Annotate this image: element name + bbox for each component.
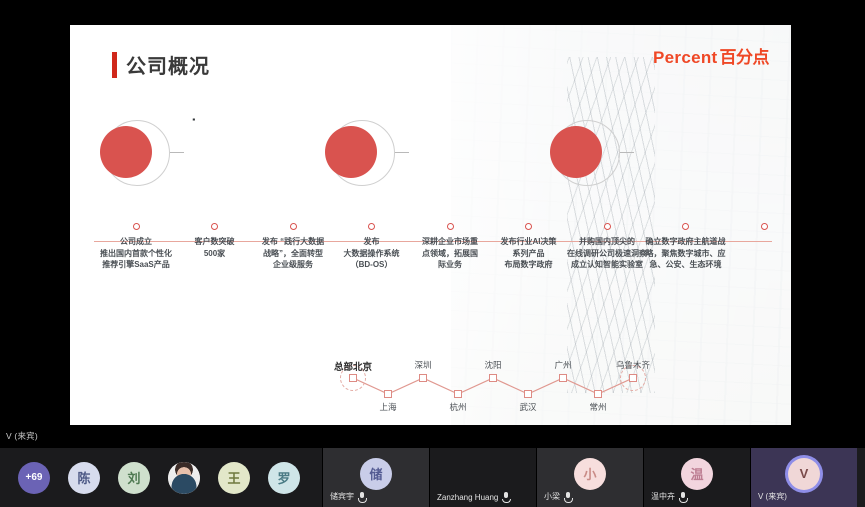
participant-dock: +69陈刘王罗 储储宾宇Zanzhang Huang小小梁温温中卉VV (来宾) (0, 448, 865, 507)
company-logo: Percent百分点 (653, 43, 769, 68)
city-square (384, 390, 392, 398)
city-square (419, 374, 427, 382)
tile-avatar: 储 (360, 458, 392, 490)
tile-name-row: 小梁 (544, 491, 571, 502)
muted-mic-icon (679, 492, 686, 502)
tile-avatar: 温 (681, 458, 713, 490)
timeline-dot (447, 223, 454, 230)
meeting-screen: 公司概况 Percent百分点 公司成立推出国内首款个性化推荐引擎SaaS产品客… (0, 0, 865, 507)
timeline-dot (525, 223, 532, 230)
tile-avatar-label: 储 (369, 464, 382, 483)
participant-avatar-strip[interactable]: +69陈刘王罗 (0, 448, 322, 507)
city-name: 武汉 (493, 401, 563, 413)
timeline-dot (211, 223, 218, 230)
city-map: 总部北京上海深圳杭州沈阳武汉广州常州乌鲁木齐 (315, 350, 675, 420)
tile-participant-name: 储宾宇 (330, 491, 354, 502)
muted-mic-icon (358, 492, 365, 502)
tile-avatar: 小 (574, 458, 606, 490)
tile-participant-name: 小梁 (544, 491, 560, 502)
tile-avatar-label: 小 (583, 464, 596, 483)
muted-mic-icon (564, 492, 571, 502)
participant-tile[interactable]: 储储宾宇 (322, 448, 429, 507)
badge-connector (170, 152, 184, 153)
avatar-photo (168, 462, 200, 494)
pillar-3 (550, 108, 790, 208)
participant-avatar[interactable]: 陈 (68, 462, 100, 494)
tile-avatar-label: V (800, 466, 809, 481)
timeline-desc: 确立数字政府主航道战略，聚焦数字城市、应急、公安、生态环境 (638, 236, 734, 271)
participant-avatar[interactable]: 王 (218, 462, 250, 494)
timeline-desc-line: 略，聚焦数字城市、应 (638, 248, 734, 260)
avatar-label: +69 (26, 472, 43, 483)
timeline-desc-line: 推荐引擎SaaS产品 (88, 259, 184, 271)
timeline-dot (133, 223, 140, 230)
city-square (454, 390, 462, 398)
city-square (524, 390, 532, 398)
pillar-group (70, 108, 791, 208)
timeline-dot (682, 223, 689, 230)
logo-en-text: Percent (653, 48, 717, 67)
timeline-desc-line: 急、公安、生态环境 (638, 259, 734, 271)
city-name: 上海 (353, 401, 423, 413)
slide-title: 公司概况 (112, 50, 210, 79)
pillar-badge (325, 118, 401, 194)
presentation-slide: 公司概况 Percent百分点 公司成立推出国内首款个性化推荐引擎SaaS产品客… (70, 25, 791, 425)
pillar-badge (100, 118, 176, 194)
city-name: 总部北京 (318, 359, 388, 373)
participant-avatar[interactable] (168, 462, 200, 494)
pillar-2 (325, 108, 565, 208)
tile-participant-name: 温中卉 (651, 491, 675, 502)
city-square (559, 374, 567, 382)
participant-tile[interactable]: 小小梁 (536, 448, 643, 507)
pillar-1 (100, 108, 340, 208)
city-name: 沈阳 (458, 359, 528, 371)
slide-title-text: 公司概况 (126, 50, 210, 79)
city-square (594, 390, 602, 398)
city-name: 深圳 (388, 359, 458, 371)
pillar-badge (550, 118, 626, 194)
self-name-label: V (来宾) (6, 430, 38, 442)
timeline-dot (761, 223, 768, 230)
avatar-label: 罗 (277, 468, 290, 487)
participant-tile[interactable]: VV (来宾) (750, 448, 857, 507)
timeline-dot (604, 223, 611, 230)
timeline-desc-line: 确立数字政府主航道战 (638, 236, 734, 248)
timeline-dot (368, 223, 375, 230)
city-square (349, 374, 357, 382)
badge-circle (325, 126, 377, 178)
tile-name-row: 储宾宇 (330, 491, 365, 502)
badge-connector (620, 152, 634, 153)
badge-connector (395, 152, 409, 153)
city-name: 广州 (528, 359, 598, 371)
city-name: 常州 (563, 401, 633, 413)
tile-name-row: Zanzhang Huang (437, 492, 509, 502)
participant-tile[interactable]: 温温中卉 (643, 448, 750, 507)
participant-avatar[interactable]: 罗 (268, 462, 300, 494)
title-accent-bar (112, 52, 117, 78)
company-timeline: 公司成立推出国内首款个性化推荐引擎SaaS产品客户数突破500家发布 “践行大数… (88, 217, 778, 307)
city-square (489, 374, 497, 382)
tile-name-row: V (来宾) (758, 491, 787, 502)
logo-cn-text: 百分点 (720, 48, 770, 67)
avatar-label: 王 (227, 468, 240, 487)
overflow-participants-chip[interactable]: +69 (18, 462, 50, 494)
city-name: 乌鲁木齐 (598, 359, 668, 371)
timeline-dot (290, 223, 297, 230)
participant-tile-strip: 储储宾宇Zanzhang Huang小小梁温温中卉VV (来宾) (322, 448, 857, 507)
badge-circle (550, 126, 602, 178)
city-name: 杭州 (423, 401, 493, 413)
participant-avatar[interactable]: 刘 (118, 462, 150, 494)
city-square (629, 374, 637, 382)
avatar-label: 刘 (127, 468, 140, 487)
badge-circle (100, 126, 152, 178)
tile-avatar-label: 温 (690, 464, 703, 483)
tile-avatar: V (788, 458, 820, 490)
tile-participant-name: V (来宾) (758, 491, 787, 502)
muted-mic-icon (502, 492, 509, 502)
tile-name-row: 温中卉 (651, 491, 686, 502)
timeline-item (716, 217, 791, 236)
participant-tile[interactable]: Zanzhang Huang (429, 448, 536, 507)
avatar-label: 陈 (77, 468, 90, 487)
tile-participant-name: Zanzhang Huang (437, 493, 498, 502)
